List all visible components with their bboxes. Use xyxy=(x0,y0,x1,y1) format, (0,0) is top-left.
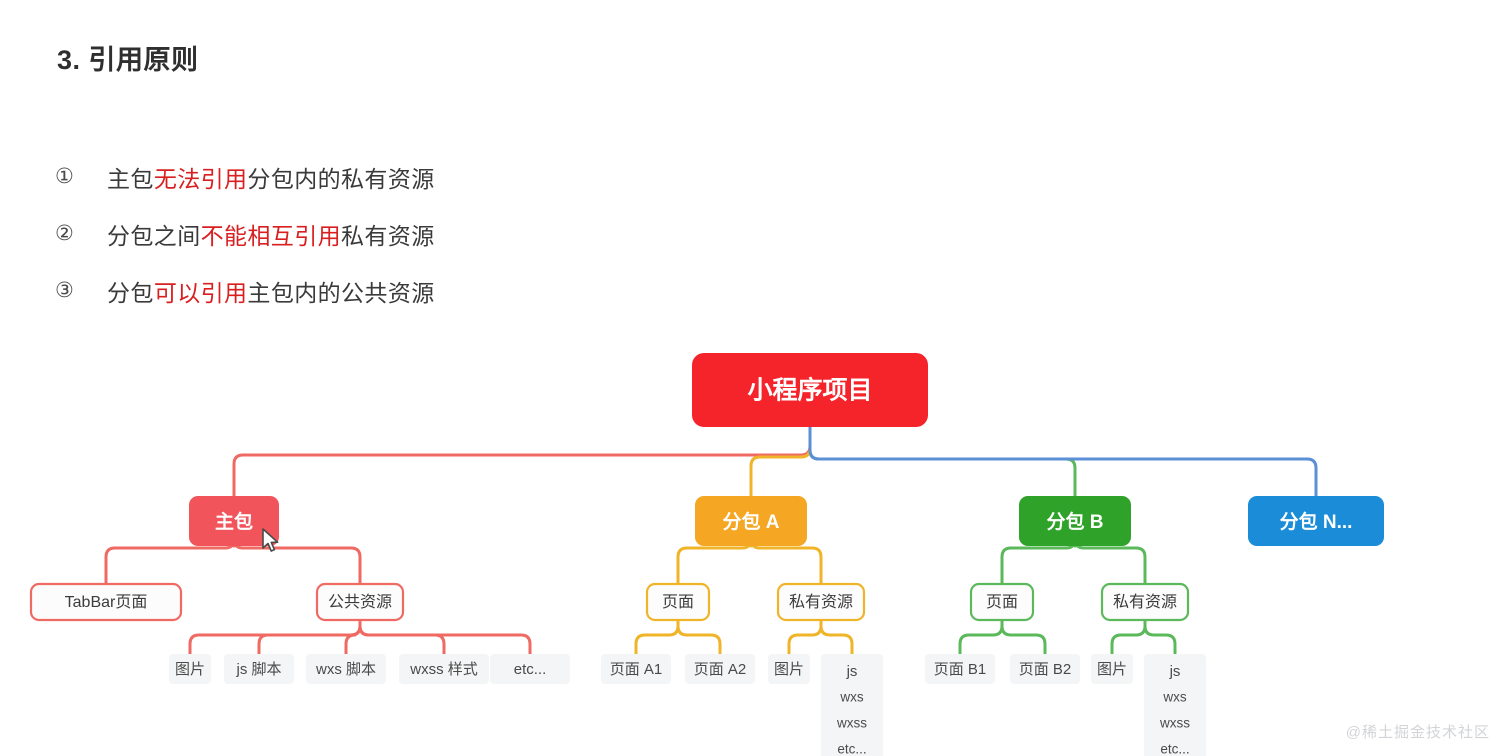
node-package-subB-label: 分包 B xyxy=(1046,510,1103,533)
rule-item-2: ②分包之间不能相互引用私有资源 xyxy=(55,205,435,262)
leaf-subA-res-multi-line-3: etc... xyxy=(837,742,866,756)
connector-line xyxy=(346,620,360,654)
leaf-subA-page-1[interactable]: 页面 A2 xyxy=(685,654,755,684)
connector-line xyxy=(360,620,444,654)
leaf-main-3-label: wxss 样式 xyxy=(409,661,478,678)
rule-item-3: ③分包可以引用主包内的公共资源 xyxy=(55,262,435,319)
leaf-subA-page-0-label: 页面 A1 xyxy=(610,661,663,678)
leaf-main-2-label: wxs 脚本 xyxy=(315,661,376,678)
rule-highlight: 可以引用 xyxy=(154,280,248,306)
node-root[interactable]: 小程序项目 xyxy=(692,353,928,427)
leaf-subA-res-multi-line-2: wxss xyxy=(836,716,867,731)
node-subB-private[interactable]: 私有资源 xyxy=(1102,584,1188,620)
rule-plain: 私有资源 xyxy=(341,223,435,249)
connector-line xyxy=(678,620,720,654)
leaf-subB-res-0-label: 图片 xyxy=(1097,661,1127,678)
rule-text: 分包之间不能相互引用私有资源 xyxy=(107,217,435,251)
leaf-subA-res-0-label: 图片 xyxy=(774,661,804,678)
mouse-cursor-icon xyxy=(262,528,280,554)
node-subB-pages-label: 页面 xyxy=(986,594,1018,611)
leaf-main-3[interactable]: wxss 样式 xyxy=(399,654,489,684)
node-subA-pages-label: 页面 xyxy=(662,594,694,611)
rules-list: ①主包无法引用分包内的私有资源②分包之间不能相互引用私有资源③分包可以引用主包内… xyxy=(55,148,435,319)
connector-line xyxy=(636,620,678,654)
connector-line xyxy=(190,620,360,654)
leaf-main-1[interactable]: js 脚本 xyxy=(224,654,294,684)
leaf-subB-res-multi-line-0: js xyxy=(1169,663,1181,680)
connector-line xyxy=(821,620,852,654)
leaf-subB-page-0-label: 页面 B1 xyxy=(934,661,987,678)
node-subB-private-label: 私有资源 xyxy=(1113,593,1177,611)
rule-number: ③ xyxy=(55,278,107,303)
connector-line xyxy=(789,620,821,654)
rule-plain: 主包内的公共资源 xyxy=(247,280,434,306)
leaf-subA-res-multi[interactable]: jswxswxssetc... xyxy=(821,654,883,756)
node-subA-private-label: 私有资源 xyxy=(789,593,853,611)
leaf-subB-res-multi-line-2: wxss xyxy=(1159,716,1190,731)
node-subA-pages[interactable]: 页面 xyxy=(647,584,709,620)
rule-highlight: 不能相互引用 xyxy=(201,223,341,249)
leaf-subA-page-1-label: 页面 A2 xyxy=(694,661,747,678)
node-main-tabbar[interactable]: TabBar页面 xyxy=(31,584,181,620)
node-main-public-label: 公共资源 xyxy=(328,593,392,611)
leaf-main-0-label: 图片 xyxy=(175,661,205,678)
slide-page: 3. 引用原则 ①主包无法引用分包内的私有资源②分包之间不能相互引用私有资源③分… xyxy=(0,0,1512,756)
leaf-subA-res-multi-line-1: wxs xyxy=(839,690,863,705)
rule-number: ① xyxy=(55,164,107,189)
leaf-subA-res-multi-line-0: js xyxy=(846,663,858,680)
node-main-public[interactable]: 公共资源 xyxy=(317,584,403,620)
leaf-subB-page-1[interactable]: 页面 B2 xyxy=(1010,654,1080,684)
rule-text: 主包无法引用分包内的私有资源 xyxy=(107,160,435,194)
leaf-main-4[interactable]: etc... xyxy=(490,654,570,684)
rule-number: ② xyxy=(55,221,107,246)
node-package-main-label: 主包 xyxy=(215,510,253,533)
leaf-subA-page-0[interactable]: 页面 A1 xyxy=(601,654,671,684)
node-subB-pages[interactable]: 页面 xyxy=(971,584,1033,620)
rule-plain: 主包 xyxy=(107,166,154,192)
connector-line xyxy=(751,427,810,496)
node-package-subN-label: 分包 N... xyxy=(1280,510,1353,533)
watermark: @稀土掘金技术社区 xyxy=(1346,721,1490,742)
leaf-main-4-label: etc... xyxy=(514,661,547,678)
node-package-subA[interactable]: 分包 A xyxy=(695,496,807,546)
leaf-subB-page-0[interactable]: 页面 B1 xyxy=(925,654,995,684)
leaf-subB-page-1-label: 页面 B2 xyxy=(1019,661,1072,678)
connector-line xyxy=(1112,620,1145,654)
node-package-subN[interactable]: 分包 N... xyxy=(1248,496,1384,546)
node-subA-private[interactable]: 私有资源 xyxy=(778,584,864,620)
package-structure-diagram: 小程序项目主包分包 A分包 B分包 N...TabBar页面公共资源图片js 脚… xyxy=(0,330,1512,756)
leaf-subB-res-multi-line-3: etc... xyxy=(1160,742,1189,756)
page-title: 3. 引用原则 xyxy=(57,38,199,77)
node-package-subB[interactable]: 分包 B xyxy=(1019,496,1131,546)
leaf-subB-res-multi-line-1: wxs xyxy=(1162,690,1186,705)
leaf-subB-res-0[interactable]: 图片 xyxy=(1091,654,1133,684)
leaf-main-0[interactable]: 图片 xyxy=(169,654,211,684)
rule-text: 分包可以引用主包内的公共资源 xyxy=(107,274,435,308)
node-main-tabbar-label: TabBar页面 xyxy=(65,594,148,611)
rule-plain: 分包之间 xyxy=(107,223,201,249)
connector-line xyxy=(1145,620,1175,654)
leaf-subB-res-multi[interactable]: jswxswxssetc... xyxy=(1144,654,1206,756)
leaf-subA-res-0[interactable]: 图片 xyxy=(768,654,810,684)
diagram-nodes: 小程序项目主包分包 A分包 B分包 N...TabBar页面公共资源图片js 脚… xyxy=(31,353,1384,756)
connector-line xyxy=(234,427,810,496)
connector-line xyxy=(810,427,1075,496)
connector-line xyxy=(810,427,1316,496)
node-package-subA-label: 分包 A xyxy=(722,510,779,533)
leaf-main-1-label: js 脚本 xyxy=(235,661,281,678)
rule-plain: 分包内的私有资源 xyxy=(247,166,434,192)
rule-item-1: ①主包无法引用分包内的私有资源 xyxy=(55,148,435,205)
node-root-label: 小程序项目 xyxy=(747,376,872,405)
connector-line xyxy=(960,620,1002,654)
rule-plain: 分包 xyxy=(107,280,154,306)
rule-highlight: 无法引用 xyxy=(154,166,248,192)
leaf-main-2[interactable]: wxs 脚本 xyxy=(306,654,386,684)
connector-line xyxy=(1002,620,1045,654)
